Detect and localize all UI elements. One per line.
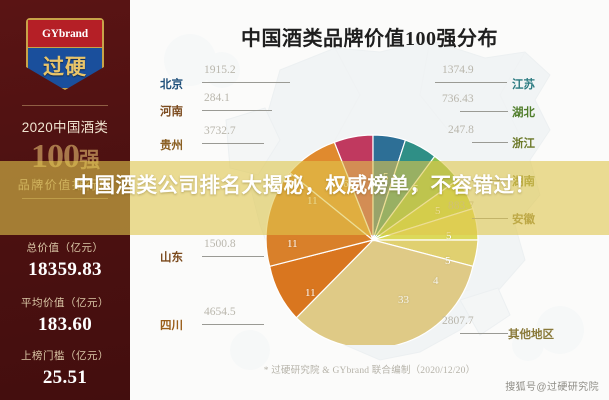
pie-label-other: 33 — [398, 294, 409, 306]
callout-name: 山东 — [160, 249, 183, 265]
callout-name: 北京 — [160, 76, 183, 92]
stat-threshold-value: 上榜门槛（亿元） 25.51 — [0, 348, 130, 389]
callout-name: 四川 — [160, 317, 183, 333]
pie-label-sichuan: 11 — [305, 287, 316, 299]
stat-value: 183.60 — [0, 314, 130, 336]
leader-line — [460, 333, 508, 334]
sidebar-year-line: 2020中国酒类 — [0, 116, 130, 136]
logo-cn-band: 过硬 — [28, 48, 102, 92]
gybrand-logo: GYbrand 过硬 — [26, 18, 104, 90]
leader-line — [202, 256, 264, 257]
stat-label: 上榜门槛（亿元） — [0, 348, 130, 363]
callout-name: 河南 — [160, 103, 183, 119]
logo-brand-band: GYbrand — [28, 20, 102, 48]
pie-label-hunan: 5 — [445, 255, 451, 267]
infographic-root: GYbrand 过硬 2020中国酒类 100强 品牌价值排行榜 总价值（亿元）… — [0, 0, 609, 400]
callout-value: 1374.9 — [442, 64, 474, 76]
overlay-headline: 中国酒类公司排名大揭秘，权威榜单，不容错过！ — [0, 172, 609, 200]
logo-cn-text: 过硬 — [43, 51, 87, 81]
leader-line — [202, 324, 264, 325]
logo-brand-text: GYbrand — [42, 28, 88, 40]
callout-value: 3732.7 — [204, 125, 236, 137]
leader-line — [472, 142, 508, 143]
callout-name: 其他地区 — [508, 326, 554, 342]
leader-line — [460, 111, 508, 112]
callout-value: 736.43 — [442, 93, 474, 105]
callout-value: 284.1 — [204, 92, 230, 104]
chart-title: 中国酒类品牌价值100强分布 — [130, 22, 609, 51]
leader-line — [202, 143, 264, 144]
pie-label-shandong: 11 — [287, 238, 298, 250]
leader-line — [202, 82, 290, 83]
pie-label-anhui: 4 — [433, 275, 439, 287]
sidebar-divider-top — [22, 105, 108, 106]
callout-value: 2807.7 — [442, 315, 474, 327]
callout-name: 贵州 — [160, 137, 183, 153]
callout-name: 浙江 — [512, 135, 535, 151]
chart-footnote: * 过硬研究院 & GYbrand 联合编制（2020/12/20） — [130, 362, 609, 376]
leader-line — [435, 82, 507, 83]
stat-label: 平均价值（亿元） — [0, 295, 130, 310]
callout-value: 247.8 — [448, 124, 474, 136]
leader-line — [202, 110, 272, 111]
callout-value: 1500.8 — [204, 238, 236, 250]
stat-value: 25.51 — [0, 367, 130, 389]
callout-value: 4654.5 — [204, 306, 236, 318]
stat-average-value: 平均价值（亿元） 183.60 — [0, 295, 130, 336]
shield-icon: GYbrand 过硬 — [26, 18, 104, 90]
stat-value: 18359.83 — [0, 259, 130, 281]
stat-total-value: 总价值（亿元） 18359.83 — [0, 240, 130, 281]
watermark-text: 搜狐号@过硬研究院 — [505, 378, 599, 393]
stat-label: 总价值（亿元） — [0, 240, 130, 255]
callout-name: 江苏 — [512, 76, 535, 92]
callout-name: 湖北 — [512, 104, 535, 120]
callout-value: 1915.2 — [204, 64, 236, 76]
